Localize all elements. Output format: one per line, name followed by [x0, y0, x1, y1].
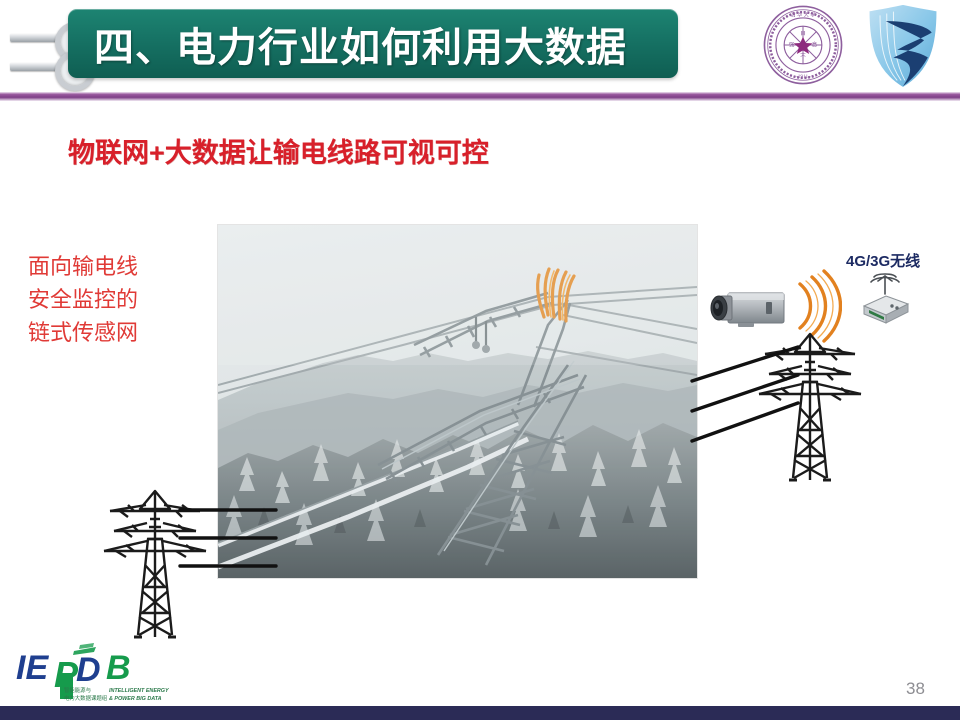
- footer-bar: [0, 706, 960, 720]
- svg-text:自: 自: [800, 29, 806, 37]
- left-caption-line-3: 链式传感网: [28, 316, 193, 349]
- svg-text:~1911~: ~1911~: [795, 74, 811, 80]
- left-caption-line-2: 安全监控的: [28, 283, 193, 316]
- header-divider: [0, 92, 960, 101]
- left-caption-line-1: 面向输电线: [28, 250, 193, 283]
- slide-subheading: 物联网+大数据让输电线路可视可控: [68, 131, 489, 170]
- svg-text:智能能源与: 智能能源与: [64, 686, 91, 694]
- link-lines-right: [690, 345, 800, 450]
- section-title-plate: 四、电力行业如何利用大数据: [68, 9, 678, 78]
- iepbd-group-logo: IE P D B 智能能源与 电力大数据课题组 INTELLIGENT ENER…: [14, 643, 179, 705]
- link-lines-left: [178, 498, 278, 570]
- svg-text:D: D: [76, 651, 101, 689]
- svg-text:电力大数据课题组: 电力大数据课题组: [64, 694, 108, 702]
- cctv-camera-icon: [708, 285, 790, 333]
- left-caption-block: 面向输电线 安全监控的 链式传感网: [28, 250, 193, 349]
- svg-text:& POWER BIG DATA: & POWER BIG DATA: [109, 696, 162, 702]
- page-number: 38: [906, 679, 925, 699]
- svg-text:强: 强: [789, 42, 795, 49]
- svg-text:IE: IE: [16, 649, 49, 687]
- svg-text:息: 息: [812, 41, 818, 49]
- tsinghua-university-seal-icon: 自 强 息 不 清 华 大 学 ~1911~: [762, 4, 844, 86]
- wireless-network-label: 4G/3G无线: [846, 250, 920, 271]
- slide-canvas: 四、电力行业如何利用大数据 自 强 息 不 清 华 大 学: [0, 0, 960, 720]
- iced-transmission-tower-photo: [218, 225, 697, 578]
- wireless-router-icon: [856, 272, 914, 328]
- svg-text:INTELLIGENT ENERGY: INTELLIGENT ENERGY: [109, 688, 169, 694]
- slide-header: 四、电力行业如何利用大数据 自 强 息 不 清 华 大 学: [0, 0, 960, 92]
- svg-text:清 华 大 学: 清 华 大 学: [790, 10, 816, 18]
- blue-shield-logo-icon: [864, 2, 942, 90]
- section-title: 四、电力行业如何利用大数据: [94, 15, 627, 73]
- svg-text:不: 不: [800, 53, 806, 60]
- svg-text:B: B: [106, 649, 131, 687]
